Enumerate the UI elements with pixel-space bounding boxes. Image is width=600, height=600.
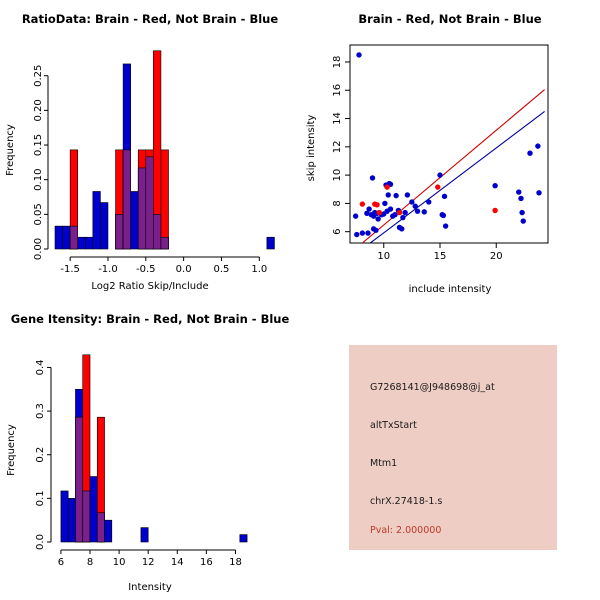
histogram-bar-notbrain (78, 237, 86, 249)
histogram-bar-overlap (153, 214, 161, 249)
scatter-point-notbrain (443, 223, 448, 228)
gene-histogram-xlabel: Intensity (128, 582, 172, 593)
scatter-point-brain (377, 210, 382, 215)
scatter-point-notbrain (399, 226, 404, 231)
x-axis-tick-label: 0.0 (176, 264, 192, 275)
fit-line-not-brain-fit (370, 111, 544, 243)
y-axis-tick-label: 18 (332, 56, 343, 69)
scatter-point-notbrain (388, 206, 393, 211)
histogram-bar-notbrain (63, 226, 71, 249)
x-axis-tick-label: 0.5 (214, 264, 230, 275)
y-axis-tick-label: 0.05 (33, 203, 44, 225)
probe-info-box: G7268141@J948698@j_at altTxStart Mtm1 ch… (349, 345, 557, 550)
scatter-point-brain (492, 208, 497, 213)
x-axis-tick-label: -1.0 (98, 264, 118, 275)
histogram-bar-notbrain (93, 191, 101, 249)
scatter-point-notbrain (535, 143, 540, 148)
x-axis-tick-label: 18 (229, 557, 242, 568)
histogram-bar-overlap (75, 417, 82, 542)
y-axis-tick-label: 0.4 (35, 360, 46, 376)
scatter-point-notbrain (370, 175, 375, 180)
histogram-bar-overlap (97, 513, 104, 542)
histogram-bar-notbrain (131, 191, 139, 249)
scatter-point-notbrain (492, 183, 497, 188)
scatter-point-notbrain (373, 228, 378, 233)
panel-ratio-histogram: RatioData: Brain - Red, Not Brain - Blue… (0, 0, 300, 300)
y-axis-tick-label: 0.10 (33, 169, 44, 191)
scatter-point-notbrain (527, 150, 532, 155)
histogram-bar-notbrain (68, 498, 75, 542)
histogram-bar-overlap (138, 168, 146, 249)
gene-histogram-bars (61, 355, 247, 542)
x-axis-tick-label: 8 (87, 557, 93, 568)
x-axis-tick-label: 14 (171, 557, 184, 568)
scatter-point-notbrain (413, 204, 418, 209)
y-axis-tick-label: 0.00 (33, 238, 44, 260)
x-axis-tick-label: 10 (113, 557, 126, 568)
histogram-bar-notbrain (105, 520, 112, 542)
histogram-bar-notbrain (240, 535, 247, 542)
histogram-bar-notbrain (267, 237, 275, 249)
histogram-bar-overlap (123, 150, 131, 249)
x-axis-tick-label: 12 (142, 557, 155, 568)
scatter-axes: 681012141618101520 (332, 56, 503, 262)
histogram-bar-brain (161, 150, 169, 249)
scatter-point-brain (360, 201, 365, 206)
scatter-point-notbrain (405, 192, 410, 197)
x-axis-tick-label: 1.0 (251, 264, 267, 275)
intensity-scatter-plot: 681012141618101520 include intensity ski… (300, 0, 600, 300)
y-axis-tick-label: 0.2 (35, 447, 46, 463)
scatter-point-notbrain (393, 193, 398, 198)
histogram-bar-notbrain (85, 237, 93, 249)
y-axis-tick-label: 6 (332, 228, 343, 234)
plot-grid: RatioData: Brain - Red, Not Brain - Blue… (0, 0, 600, 600)
scatter-point-brain (435, 184, 440, 189)
histogram-bar-notbrain (100, 203, 108, 249)
scatter-point-notbrain (353, 213, 358, 218)
scatter-point-notbrain (536, 190, 541, 195)
event-type-text: altTxStart (370, 420, 417, 431)
scatter-point-notbrain (521, 218, 526, 223)
scatter-point-brain (397, 210, 402, 215)
scatter-point-notbrain (409, 199, 414, 204)
histogram-bar-overlap (70, 226, 78, 249)
scatter-point-notbrain (364, 211, 369, 216)
scatter-point-notbrain (516, 189, 521, 194)
histogram-bar-overlap (83, 491, 90, 542)
scatter-point-notbrain (400, 215, 405, 220)
histogram-bar-notbrain (61, 491, 68, 542)
scatter-point-notbrain (365, 230, 370, 235)
scatter-point-notbrain (442, 194, 447, 199)
scatter-point-notbrain (519, 210, 524, 215)
scatter-point-notbrain (518, 196, 523, 201)
y-axis-tick-label: 0.15 (33, 134, 44, 156)
scatter-point-notbrain (426, 199, 431, 204)
scatter-point-notbrain (441, 213, 446, 218)
histogram-bar-notbrain (55, 226, 63, 249)
scatter-point-notbrain (382, 201, 387, 206)
x-axis-tick-label: 15 (434, 251, 447, 262)
gene-symbol-text: Mtm1 (370, 458, 397, 469)
y-axis-tick-label: 0.20 (33, 99, 44, 121)
ratio-histogram-bars (55, 51, 274, 249)
pval-text: Pval: 2.000000 (370, 525, 441, 536)
y-axis-tick-label: 0.25 (33, 65, 44, 87)
panel-gene-intensity-histogram: Gene Itensity: Brain - Red, Not Brain - … (0, 300, 300, 600)
scatter-xlabel: include intensity (409, 284, 492, 295)
x-axis-tick-label: 20 (490, 251, 503, 262)
histogram-bar-notbrain (141, 528, 148, 542)
panel-intensity-scatter: Brain - Red, Not Brain - Blue 6810121416… (300, 0, 600, 300)
gene-histogram-ylabel: Frequency (6, 424, 17, 476)
scatter-point-notbrain (386, 192, 391, 197)
y-axis-tick-label: 8 (332, 200, 343, 206)
probe-id-text: G7268141@J948698@j_at (370, 382, 495, 393)
fit-line-brain-fit (362, 90, 544, 243)
coordinate-text: chrX.27418-1.s (370, 496, 442, 507)
scatter-point-brain (384, 184, 389, 189)
x-axis-tick-label: 6 (58, 557, 64, 568)
ratio-histogram-ylabel: Frequency (5, 124, 16, 176)
x-axis-tick-label: -1.5 (60, 264, 80, 275)
scatter-point-notbrain (415, 208, 420, 213)
ratio-histogram-xlabel: Log2 Ratio Skip/Include (91, 281, 208, 292)
x-axis-tick-label: 10 (377, 251, 390, 262)
scatter-point-notbrain (356, 52, 361, 57)
y-axis-tick-label: 16 (332, 84, 343, 97)
scatter-points (353, 52, 542, 237)
scatter-point-notbrain (402, 210, 407, 215)
scatter-point-notbrain (437, 172, 442, 177)
histogram-bar-overlap (146, 157, 154, 249)
y-axis-tick-label: 10 (332, 169, 343, 182)
y-axis-tick-label: 0.1 (35, 490, 46, 506)
scatter-point-notbrain (360, 230, 365, 235)
x-axis-tick-label: 16 (200, 557, 213, 568)
panel-probe-info: G7268141@J948698@j_at altTxStart Mtm1 ch… (300, 300, 600, 600)
y-axis-tick-label: 0.0 (35, 534, 46, 550)
scatter-point-notbrain (375, 216, 380, 221)
histogram-bar-overlap (116, 214, 124, 249)
x-axis-tick-label: -0.5 (136, 264, 156, 275)
histogram-bar-overlap (161, 237, 169, 249)
y-axis-tick-label: 0.3 (35, 403, 46, 419)
scatter-point-notbrain (354, 232, 359, 237)
ratio-histogram-plot: 0.000.050.100.150.200.25-1.5-1.0-0.50.00… (0, 0, 300, 300)
y-axis-tick-label: 14 (332, 112, 343, 125)
scatter-point-notbrain (422, 209, 427, 214)
gene-histogram-plot: 0.00.10.20.30.4681012141618 Intensity Fr… (0, 300, 300, 600)
y-axis-tick-label: 12 (332, 140, 343, 153)
scatter-fit-lines (362, 90, 544, 243)
scatter-ylabel: skip intensity (306, 115, 317, 182)
histogram-bar-notbrain (90, 477, 97, 542)
scatter-point-brain (374, 202, 379, 207)
